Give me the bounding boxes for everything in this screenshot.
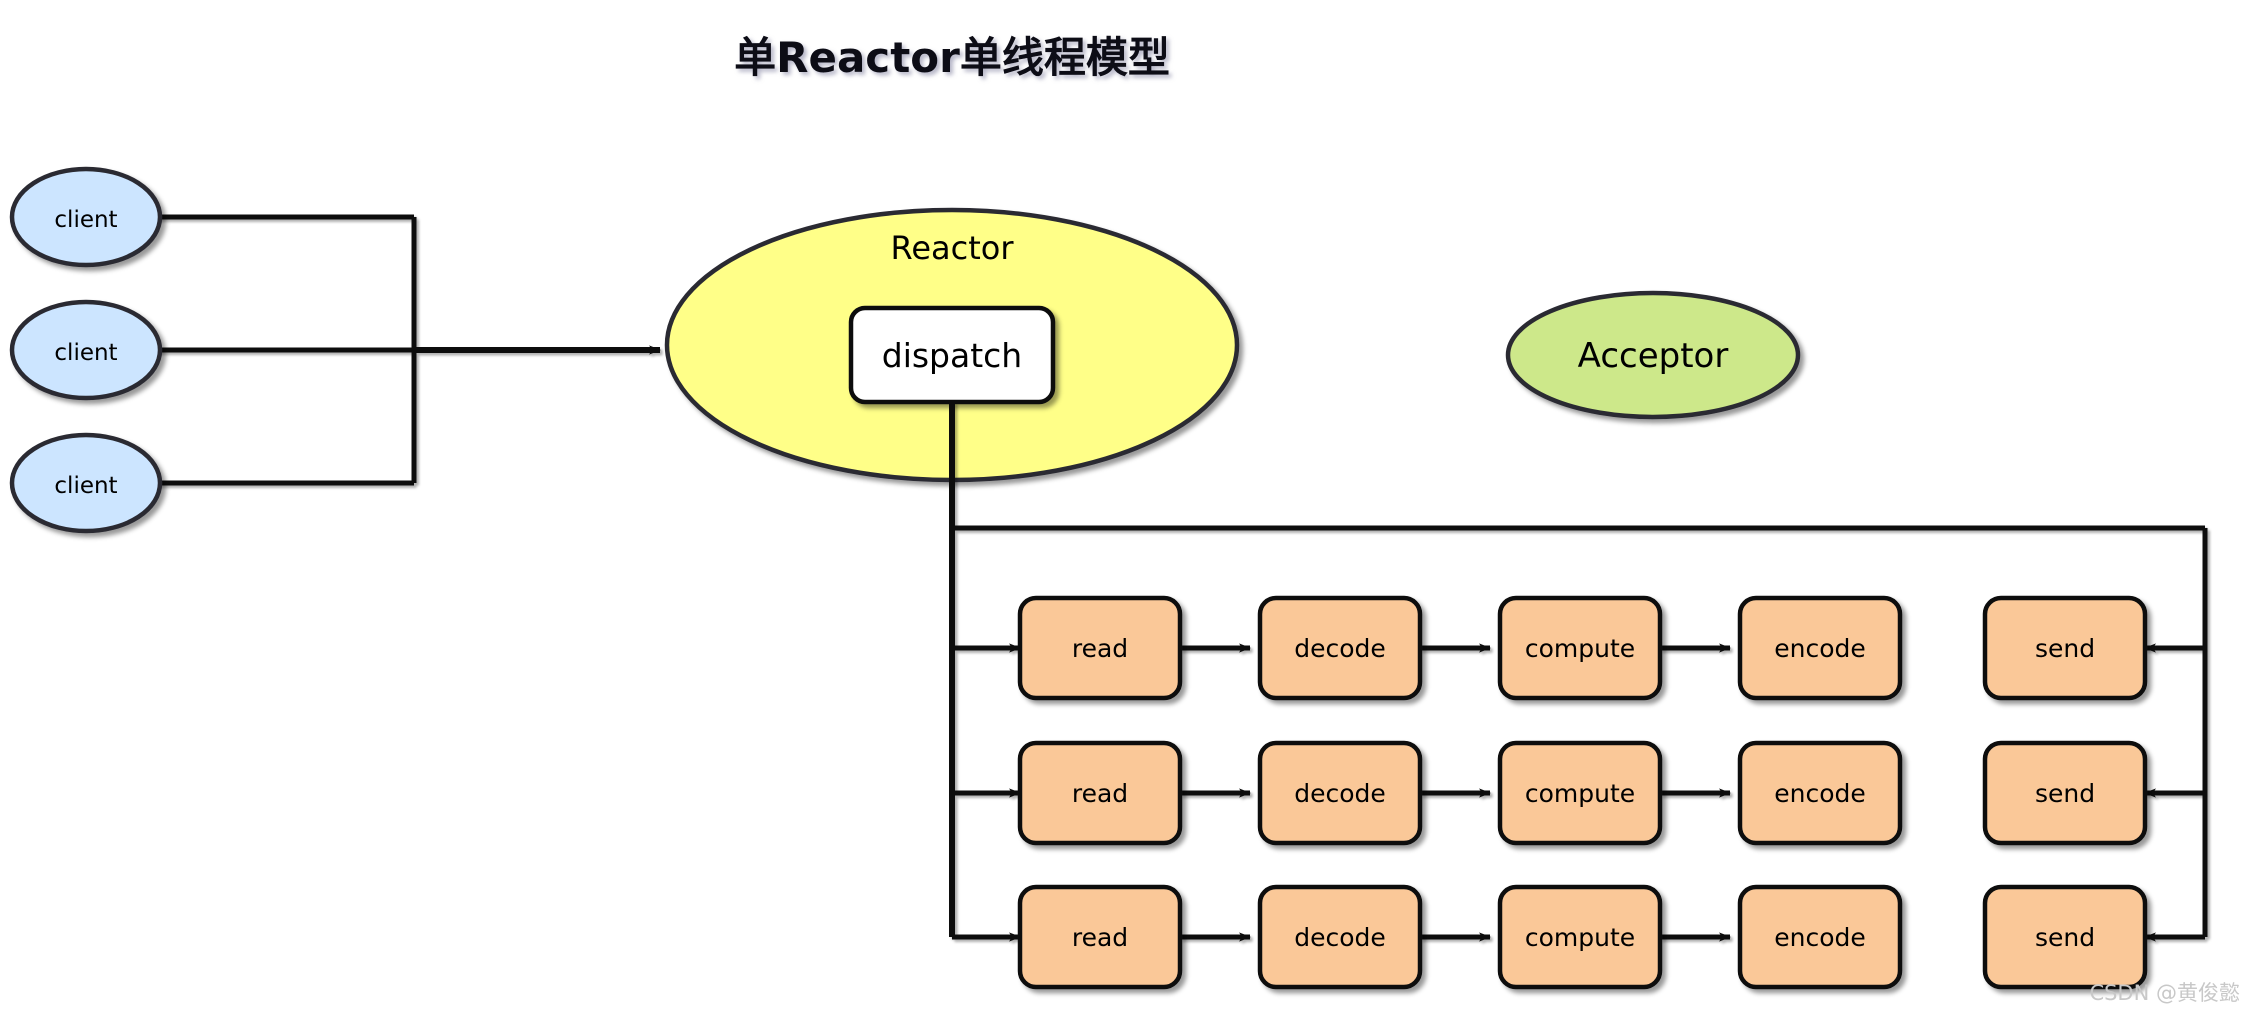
handler-label: read [1072,779,1128,808]
handler-label: encode [1774,779,1866,808]
handler-label: compute [1525,634,1635,663]
handler-label: encode [1774,923,1866,952]
client-bracket-connector [150,217,660,483]
handler-step-decode[interactable]: decode [1260,887,1420,987]
handler-label: send [2035,634,2095,663]
page-title: 单Reactor单线程模型 [734,33,1170,82]
acceptor-label: Acceptor [1578,336,1729,376]
client-node-2[interactable]: client [12,302,160,398]
client-label: client [54,473,117,499]
handler-label: send [2035,923,2095,952]
handler-step-send[interactable]: send [1985,887,2145,987]
handler-step-compute[interactable]: compute [1500,598,1660,698]
handler-step-compute[interactable]: compute [1500,887,1660,987]
dispatch-node[interactable]: dispatch [851,308,1053,402]
handler-step-decode[interactable]: decode [1260,598,1420,698]
reactor-model-diagram: 单Reactor单线程模型 client client client React… [0,0,2254,1011]
handler-step-read[interactable]: read [1020,598,1180,698]
acceptor-node[interactable]: Acceptor [1508,293,1798,417]
handler-step-read[interactable]: read [1020,887,1180,987]
handler-label: decode [1294,634,1386,663]
diagram-canvas: 单Reactor单线程模型 client client client React… [0,0,2254,1011]
handler-step-decode[interactable]: decode [1260,743,1420,843]
client-label: client [54,340,117,366]
handler-step-read[interactable]: read [1020,743,1180,843]
handler-label: compute [1525,779,1635,808]
handler-label: compute [1525,923,1635,952]
handler-step-send[interactable]: send [1985,743,2145,843]
handler-label: read [1072,923,1128,952]
client-node-3[interactable]: client [12,435,160,531]
handler-step-encode[interactable]: encode [1740,743,1900,843]
handler-label: decode [1294,779,1386,808]
handler-step-encode[interactable]: encode [1740,598,1900,698]
handler-label: read [1072,634,1128,663]
handler-step-compute[interactable]: compute [1500,743,1660,843]
handler-label: decode [1294,923,1386,952]
handler-label: send [2035,779,2095,808]
client-label: client [54,207,117,233]
client-node-1[interactable]: client [12,169,160,265]
watermark: CSDN @黄俊懿 [2089,981,2240,1005]
dispatch-label: dispatch [882,336,1022,375]
handler-step-encode[interactable]: encode [1740,887,1900,987]
handler-step-send[interactable]: send [1985,598,2145,698]
handler-label: encode [1774,634,1866,663]
reactor-label: Reactor [891,229,1015,267]
